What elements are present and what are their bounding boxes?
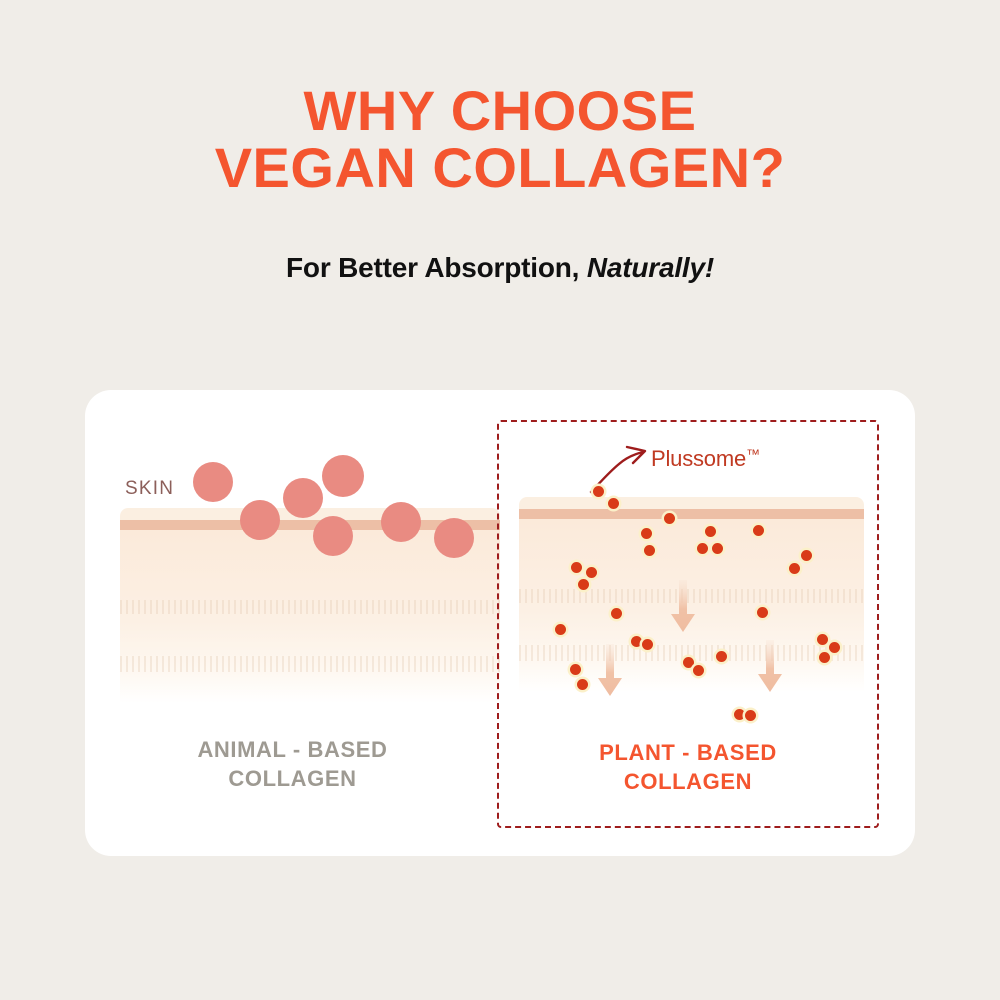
absorption-arrow-down-icon <box>757 640 783 696</box>
subtitle-emphasis: Naturally! <box>587 252 714 283</box>
title-line-2: VEGAN COLLAGEN? <box>0 139 1000 196</box>
plant-collagen-particle <box>641 528 652 539</box>
plant-collagen-particle <box>664 513 675 524</box>
plant-collagen-particle <box>745 710 756 721</box>
plant-collagen-particle <box>608 498 619 509</box>
plant-collagen-particle <box>819 652 830 663</box>
plant-collagen-particle <box>757 607 768 618</box>
plant-collagen-particle <box>697 543 708 554</box>
plant-collagen-particle <box>611 608 622 619</box>
caption-line-1: ANIMAL - BASED <box>197 737 387 762</box>
subtitle-plain: For Better Absorption, <box>286 252 587 283</box>
animal-collagen-molecule <box>434 518 474 558</box>
plant-collagen-particle <box>642 639 653 650</box>
animal-collagen-molecule <box>283 478 323 518</box>
plant-collagen-particle <box>693 665 704 676</box>
plant-collagen-particle <box>712 543 723 554</box>
skin-striation <box>120 600 500 614</box>
plant-collagen-particle <box>586 567 597 578</box>
animal-collagen-molecule <box>313 516 353 556</box>
plant-collagen-particle <box>753 525 764 536</box>
infographic-page: WHY CHOOSE VEGAN COLLAGEN? For Better Ab… <box>0 0 1000 1000</box>
plant-collagen-particle <box>734 709 745 720</box>
brand-label: Plussome™ <box>651 446 760 472</box>
caption-line-1: PLANT - BASED <box>599 740 777 765</box>
animal-based-panel: SKIN ANIMAL - BASED COLLAGEN <box>85 390 500 856</box>
page-subtitle: For Better Absorption, Naturally! <box>0 252 1000 284</box>
plant-collagen-particle <box>683 657 694 668</box>
plant-based-panel: Plussome™ PLANT - BASED COLLAGEN <box>497 420 879 828</box>
absorption-arrow-down-icon <box>670 580 696 636</box>
caption-line-2: COLLAGEN <box>624 769 752 794</box>
absorption-arrow-down-icon <box>597 644 623 700</box>
trademark-symbol: ™ <box>746 446 760 462</box>
plant-collagen-particle <box>577 679 588 690</box>
skin-label: SKIN <box>125 478 174 500</box>
plant-collagen-particle <box>631 636 642 647</box>
plant-collagen-particle <box>571 562 582 573</box>
animal-collagen-molecule <box>322 455 364 497</box>
plant-collagen-particle <box>644 545 655 556</box>
animal-based-caption: ANIMAL - BASED COLLAGEN <box>85 735 500 793</box>
plant-based-caption: PLANT - BASED COLLAGEN <box>499 738 877 796</box>
plant-collagen-particle <box>716 651 727 662</box>
plant-collagen-particle <box>593 486 604 497</box>
plant-collagen-particle <box>705 526 716 537</box>
skin-striation <box>120 656 500 672</box>
plant-collagen-particle <box>555 624 566 635</box>
plant-collagen-particle <box>789 563 800 574</box>
comparison-card: SKIN ANIMAL - BASED COLLAGEN Plussome™ <box>85 390 915 856</box>
plant-collagen-particle <box>801 550 812 561</box>
animal-collagen-molecule <box>240 500 280 540</box>
plant-collagen-particle <box>829 642 840 653</box>
plant-collagen-particle <box>578 579 589 590</box>
plant-collagen-particle <box>570 664 581 675</box>
animal-collagen-molecule <box>381 502 421 542</box>
plant-collagen-particle <box>817 634 828 645</box>
animal-collagen-molecule <box>193 462 233 502</box>
brand-name: Plussome <box>651 446 746 471</box>
page-title: WHY CHOOSE VEGAN COLLAGEN? <box>0 82 1000 196</box>
caption-line-2: COLLAGEN <box>228 766 356 791</box>
title-line-1: WHY CHOOSE <box>304 79 697 142</box>
